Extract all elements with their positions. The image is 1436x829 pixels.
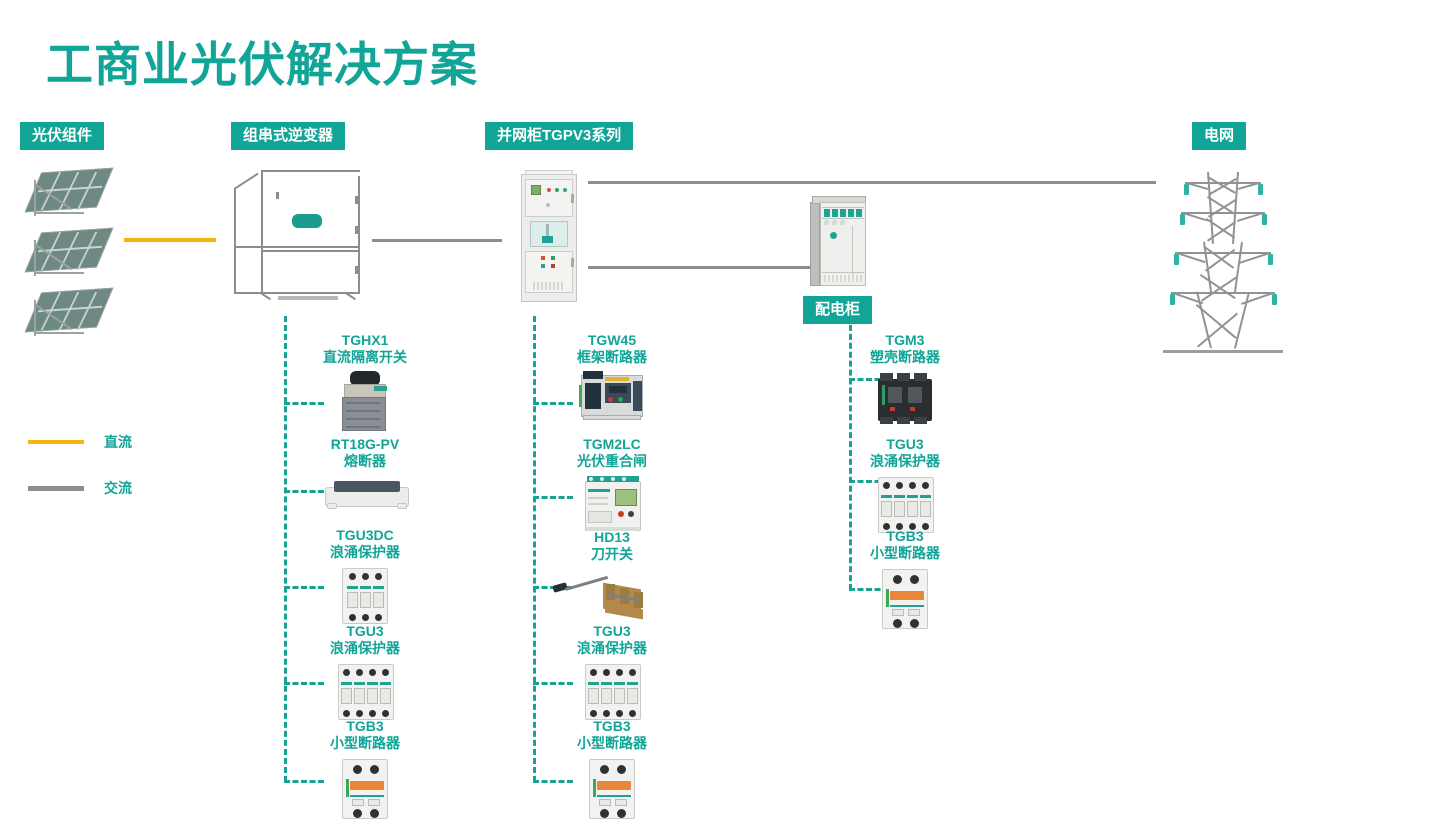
product-item: RT18G-PV 熔断器 <box>280 436 450 513</box>
mcb-window <box>599 799 611 806</box>
spd-terminal <box>616 710 623 717</box>
spd-module <box>373 592 384 608</box>
grid-cabinet-indicator-light <box>551 256 555 260</box>
spd-status-window <box>614 682 625 685</box>
mcb-terminal <box>370 809 379 818</box>
distribution-cabinet-door-edge <box>852 226 853 278</box>
section-chip-grid-cabinet: 并网柜TGPV3系列 <box>485 122 633 150</box>
mcb-terminal <box>370 765 379 774</box>
mcb-terminal <box>353 809 362 818</box>
fuse-terminal <box>327 503 337 509</box>
mccb-terminal-shroud <box>880 373 893 381</box>
tower-insulator <box>1268 254 1273 265</box>
spd-module <box>920 501 931 517</box>
spd-status-window <box>373 586 384 589</box>
product-item: TGHX1 直流隔离开关 <box>280 332 450 433</box>
recloser-display <box>615 489 637 506</box>
inverter-brand-badge <box>292 214 322 228</box>
product-image-mccb <box>820 369 990 425</box>
grid-cabinet-window <box>530 221 568 247</box>
mcb-terminal <box>617 765 626 774</box>
tower-insulator <box>1258 184 1263 195</box>
tower-brace <box>1204 246 1234 268</box>
tower-insulator <box>1272 294 1277 305</box>
grid-cabinet-breaker <box>542 236 553 243</box>
grid-cabinet-button <box>546 203 550 207</box>
spd-terminal <box>590 710 597 717</box>
spd-status-window <box>341 682 352 685</box>
acb-close-button <box>618 397 623 402</box>
product-desc: 小型断路器 <box>527 735 697 752</box>
tower-brace <box>1201 277 1237 302</box>
spd-status-window <box>360 586 371 589</box>
tower-insulator <box>1170 294 1175 305</box>
spd-terminal <box>343 710 350 717</box>
product-item: TGU3 浪涌保护器 <box>527 623 697 724</box>
spd-module <box>360 592 371 608</box>
ac-line-inverter-to-cabinet <box>372 239 502 242</box>
tower-insulator <box>1262 214 1267 225</box>
product-image-dc-isolator <box>280 369 450 433</box>
mcb-toggle-lever <box>890 591 924 600</box>
inverter-edge <box>234 292 360 294</box>
recloser-brand-strip <box>588 489 610 492</box>
section-chip-power-grid: 电网 <box>1192 122 1246 150</box>
inverter-divider <box>261 250 360 252</box>
mcb-terminal <box>617 809 626 818</box>
distribution-cabinet-vent <box>824 275 862 282</box>
mccb-terminal-shroud <box>914 373 927 381</box>
spd-module <box>588 688 599 704</box>
legend-swatch-dc <box>28 440 84 444</box>
recloser-terminal <box>589 477 593 481</box>
recloser-label-line <box>588 503 608 505</box>
grid-cabinet-vent <box>533 282 565 290</box>
spd-status-window <box>881 495 892 498</box>
product-item: TGM2LC 光伏重合闸 <box>527 436 697 535</box>
spd-module <box>601 688 612 704</box>
product-code: TGHX1 <box>280 332 450 349</box>
tower-insulator <box>1174 254 1179 265</box>
product-code: TGU3DC <box>280 527 450 544</box>
product-image-knife-switch <box>527 566 697 628</box>
mccb-handle <box>908 387 922 403</box>
mcb-window <box>368 799 380 806</box>
mcb-toggle-lever <box>350 781 384 790</box>
spd-terminal <box>343 669 350 676</box>
tower-brace <box>1200 274 1236 299</box>
ac-line-cabinet-to-grid <box>588 181 1156 184</box>
mcb-label-strip <box>350 795 384 797</box>
mccb-indicator-strip <box>882 385 885 405</box>
mccb-handle <box>888 387 902 403</box>
product-item: TGM3 塑壳断路器 <box>820 332 990 425</box>
mcb-toggle-lever <box>597 781 631 790</box>
product-item: TGB3 小型断路器 <box>527 718 697 823</box>
recloser-label-line <box>588 497 608 499</box>
product-desc: 框架断路器 <box>527 349 697 366</box>
recloser-terminal <box>611 477 615 481</box>
fuse-lid <box>334 481 400 492</box>
product-item: TGB3 小型断路器 <box>280 718 450 823</box>
fuse-terminal <box>397 503 407 509</box>
recloser-button <box>618 511 624 517</box>
mcb-indicator-strip <box>886 589 889 607</box>
tower-crossarm <box>1171 292 1275 294</box>
spd-status-window <box>601 682 612 685</box>
mcb-terminal <box>600 809 609 818</box>
product-desc: 浪涌保护器 <box>820 453 990 470</box>
spd-module <box>894 501 905 517</box>
section-chip-string-inverter: 组串式逆变器 <box>231 122 345 150</box>
product-image-spd-3pole <box>280 564 450 628</box>
inverter-edge <box>261 170 360 172</box>
mccb-trip-button <box>890 407 895 411</box>
spd-status-window <box>347 586 358 589</box>
acb-indicator <box>579 385 582 407</box>
grid-cabinet-indicator-light <box>541 256 545 260</box>
spd-terminal <box>369 669 376 676</box>
product-image-spd-4pole <box>527 660 697 724</box>
legend-label-ac: 交流 <box>104 478 132 498</box>
section-chip-distribution-cabinet: 配电柜 <box>803 296 872 324</box>
product-code: TGM2LC <box>527 436 697 453</box>
product-image-fuse <box>280 473 450 513</box>
mcb-indicator-strip <box>346 779 349 797</box>
product-image-mcb <box>280 755 450 823</box>
dc-line-pv-to-inverter <box>124 238 216 242</box>
spd-status-window <box>380 682 391 685</box>
distribution-cabinet-switch <box>824 220 829 225</box>
acb-top-cover <box>583 371 603 379</box>
product-code: TGB3 <box>820 528 990 545</box>
spd-status-window <box>627 682 638 685</box>
mcb-terminal <box>910 575 919 584</box>
product-item: TGU3 浪涌保护器 <box>280 623 450 724</box>
spd-terminal <box>382 669 389 676</box>
knife-switch-pole <box>606 584 615 600</box>
page-title: 工商业光伏解决方案 <box>46 26 478 95</box>
spd-terminal <box>356 710 363 717</box>
grid-cabinet-handle <box>571 194 574 203</box>
isolator-vent <box>346 402 380 404</box>
product-item: TGB3 小型断路器 <box>820 528 990 633</box>
product-item: TGU3 浪涌保护器 <box>820 436 990 537</box>
product-desc: 浪涌保护器 <box>280 544 450 561</box>
acb-side-panel <box>585 383 601 409</box>
spd-module <box>907 501 918 517</box>
spd-terminal <box>349 573 356 580</box>
spd-terminal <box>629 710 636 717</box>
spd-terminal <box>590 669 597 676</box>
recloser-switch-block <box>588 511 612 523</box>
product-desc: 直流隔离开关 <box>280 349 450 366</box>
inverter-edge <box>234 173 259 190</box>
string-inverter-illustration <box>234 170 376 298</box>
spd-terminal <box>375 614 382 621</box>
isolator-vent <box>346 426 380 428</box>
spd-terminal <box>883 482 890 489</box>
distribution-cabinet-divider <box>822 207 864 208</box>
spd-terminal <box>362 573 369 580</box>
inverter-hinge <box>355 196 359 204</box>
product-desc: 熔断器 <box>280 453 450 470</box>
distribution-cabinet-switch <box>832 220 837 225</box>
product-desc: 光伏重合闸 <box>527 453 697 470</box>
mccb-terminal-shroud <box>897 417 910 424</box>
spd-status-window <box>920 495 931 498</box>
product-code: TGM3 <box>820 332 990 349</box>
spd-module <box>367 688 378 704</box>
product-image-mcb <box>527 755 697 823</box>
product-desc: 小型断路器 <box>280 735 450 752</box>
mccb-trip-button <box>910 407 915 411</box>
pv-panel-leg <box>34 212 84 214</box>
spd-module <box>380 688 391 704</box>
distribution-cabinet-side <box>810 202 820 286</box>
spd-module <box>881 501 892 517</box>
tower-crossarm <box>1181 212 1265 214</box>
mcb-window <box>615 799 627 806</box>
mcb-terminal <box>600 765 609 774</box>
product-code: TGB3 <box>527 718 697 735</box>
spd-module <box>347 592 358 608</box>
distribution-cabinet-module <box>856 209 862 217</box>
grid-cabinet-handle <box>571 258 574 267</box>
spd-terminal <box>375 573 382 580</box>
product-code: TGB3 <box>280 718 450 735</box>
spd-status-window <box>907 495 918 498</box>
product-desc: 塑壳断路器 <box>820 349 990 366</box>
spd-terminal <box>896 482 903 489</box>
inverter-edge <box>358 176 360 294</box>
distribution-cabinet-divider <box>822 272 864 273</box>
acb-terminal-block <box>633 381 642 411</box>
inverter-hinge <box>355 226 359 234</box>
inverter-edge <box>234 188 236 294</box>
transmission-tower-illustration <box>1163 168 1283 358</box>
inverter-hinge <box>355 266 359 274</box>
spd-terminal <box>369 710 376 717</box>
spd-terminal <box>382 710 389 717</box>
spd-module <box>627 688 638 704</box>
distribution-cabinet-indicator <box>830 232 837 239</box>
spd-status-window <box>367 682 378 685</box>
legend-swatch-ac <box>28 486 84 491</box>
mccb-terminal-shroud <box>880 417 893 424</box>
product-image-spd-4pole <box>280 660 450 724</box>
mcb-label-strip <box>597 795 631 797</box>
mcb-window <box>908 609 920 616</box>
grid-cabinet-indicator-light <box>551 264 555 268</box>
spd-status-window <box>894 495 905 498</box>
distribution-cabinet-module <box>840 209 846 217</box>
tower-crossarm <box>1175 252 1271 254</box>
knife-switch-operating-rod <box>565 576 608 591</box>
grid-cabinet-illustration <box>521 170 577 302</box>
inverter-divider <box>234 246 360 248</box>
inverter-edge <box>261 170 263 292</box>
recloser-button <box>628 511 634 517</box>
product-desc: 刀开关 <box>527 546 697 563</box>
spd-module <box>614 688 625 704</box>
tower-insulator <box>1180 214 1185 225</box>
pv-panel <box>24 168 110 226</box>
product-code: RT18G-PV <box>280 436 450 453</box>
spd-terminal <box>909 482 916 489</box>
distribution-cabinet-illustration <box>810 196 868 288</box>
mcb-window <box>352 799 364 806</box>
grid-cabinet-top <box>525 170 573 175</box>
grid-cabinet-meter <box>531 185 541 195</box>
isolator-vent <box>346 418 380 420</box>
pv-panel <box>24 228 110 286</box>
product-desc: 小型断路器 <box>820 545 990 562</box>
grid-cabinet-indicator-light <box>555 188 559 192</box>
grid-cabinet-indicator-light <box>563 188 567 192</box>
pv-panel-leg <box>34 332 84 334</box>
product-item: TGU3DC 浪涌保护器 <box>280 527 450 628</box>
mcb-terminal <box>353 765 362 774</box>
spd-terminal <box>603 710 610 717</box>
spd-terminal <box>603 669 610 676</box>
distribution-cabinet-module <box>848 209 854 217</box>
product-code: TGU3 <box>280 623 450 640</box>
isolator-vent <box>346 410 380 412</box>
acb-base <box>583 415 641 420</box>
pv-panel <box>24 288 110 346</box>
spd-module <box>354 688 365 704</box>
distribution-cabinet-module <box>832 209 838 217</box>
tower-brace <box>1196 304 1237 339</box>
acb-display <box>609 386 627 393</box>
product-image-mcb <box>820 565 990 633</box>
tower-ground-line <box>1163 350 1283 353</box>
solution-diagram: 工商业光伏解决方案 光伏组件 组串式逆变器 并网柜TGPV3系列 配电柜 电网 … <box>0 0 1436 829</box>
recloser-terminal <box>600 477 604 481</box>
mcb-indicator-strip <box>593 779 596 797</box>
pv-panel-leg <box>34 272 84 274</box>
inverter-vent <box>278 296 338 300</box>
spd-terminal <box>356 669 363 676</box>
spd-terminal <box>362 614 369 621</box>
product-item: HD13 刀开关 <box>527 529 697 628</box>
distribution-cabinet-switch <box>840 220 845 225</box>
grid-cabinet-indicator-light <box>547 188 551 192</box>
tower-brace <box>1208 199 1236 217</box>
acb-reset-button <box>608 397 613 402</box>
distribution-cabinet-divider <box>822 218 864 219</box>
mcb-terminal <box>893 575 902 584</box>
recloser-terminal <box>622 477 626 481</box>
legend-label-dc: 直流 <box>104 432 132 452</box>
spd-status-window <box>588 682 599 685</box>
product-item: TGW45 框架断路器 <box>527 332 697 425</box>
distribution-cabinet-module <box>824 209 830 217</box>
acb-label <box>605 377 629 381</box>
tower-insulator <box>1184 184 1189 195</box>
mcb-window <box>892 609 904 616</box>
legend-item-dc: 直流 <box>28 432 132 452</box>
mcb-terminal <box>893 619 902 628</box>
mccb-body <box>878 379 932 421</box>
mcb-terminal <box>910 619 919 628</box>
mccb-terminal-shroud <box>914 417 927 424</box>
product-code: TGU3 <box>820 436 990 453</box>
legend-item-ac: 交流 <box>28 478 132 498</box>
product-code: TGW45 <box>527 332 697 349</box>
product-code: TGU3 <box>527 623 697 640</box>
isolator-indicator <box>374 386 387 391</box>
mccb-terminal-shroud <box>897 373 910 381</box>
grid-cabinet-indicator-light <box>541 264 545 268</box>
product-desc: 浪涌保护器 <box>280 640 450 657</box>
spd-terminal <box>629 669 636 676</box>
spd-terminal <box>616 669 623 676</box>
spd-terminal <box>922 482 929 489</box>
spd-terminal <box>349 614 356 621</box>
product-desc: 浪涌保护器 <box>527 640 697 657</box>
spd-module <box>341 688 352 704</box>
product-code: HD13 <box>527 529 697 546</box>
section-chip-pv-modules: 光伏组件 <box>20 122 104 150</box>
product-image-acb <box>527 369 697 425</box>
spd-status-window <box>354 682 365 685</box>
mcb-label-strip <box>890 605 924 607</box>
inverter-hinge <box>276 192 279 199</box>
product-image-recloser <box>527 473 697 535</box>
ac-line-cabinet-to-distribution <box>588 266 810 269</box>
tower-crossarm-brace <box>1239 253 1268 264</box>
